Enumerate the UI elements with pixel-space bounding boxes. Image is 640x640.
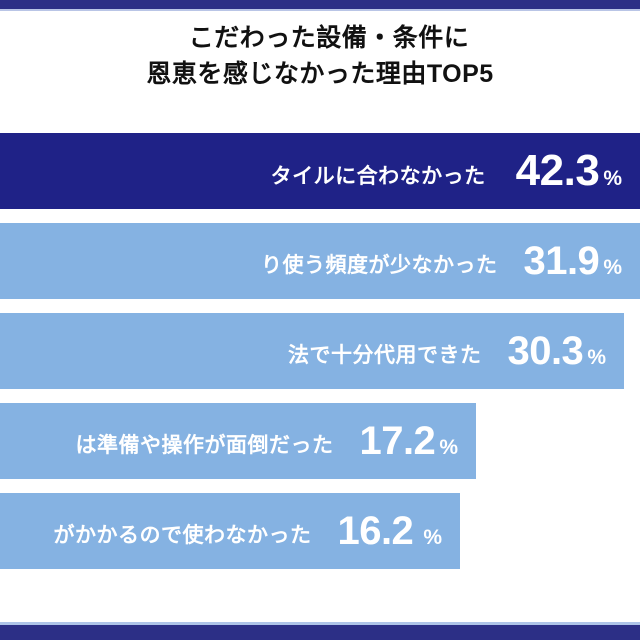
bar-rank-2: り使う頻度が少なかった31.9%	[0, 223, 640, 299]
page-title-line-1: こだわった設備・条件に	[0, 20, 640, 56]
bar-row: 法で十分代用できた30.3%	[0, 313, 640, 389]
bottom-brand-rule	[0, 625, 640, 640]
bar-content: がかかるので使わなかった16.2%	[53, 509, 460, 554]
page-title-line-2: 恩恵を感じなかった理由TOP5	[0, 56, 640, 92]
bar-content: り使う頻度が少なかった31.9%	[261, 239, 640, 284]
bar-label: は準備や操作が面倒だった	[75, 429, 333, 459]
bar-content: 法で十分代用できた30.3%	[288, 329, 624, 374]
bar-row: タイルに合わなかった42.3%	[0, 133, 640, 209]
top-brand-rule-accent	[0, 9, 640, 11]
bar-value: 31.9	[523, 239, 599, 284]
bar-value: 30.3	[507, 329, 583, 374]
bar-label: タイルに合わなかった	[271, 160, 486, 190]
bar-row: は準備や操作が面倒だった17.2%	[0, 403, 640, 479]
bar-rank-3: 法で十分代用できた30.3%	[0, 313, 624, 389]
bar-row: がかかるので使わなかった16.2%	[0, 493, 640, 569]
bar-value: 16.2	[337, 509, 413, 554]
bar-label: 法で十分代用できた	[288, 339, 482, 369]
bar-value: 42.3	[516, 146, 600, 196]
bar-rank-5: がかかるので使わなかった16.2%	[0, 493, 460, 569]
bar-content: は準備や操作が面倒だった17.2%	[75, 419, 476, 464]
bar-label: り使う頻度が少なかった	[261, 249, 498, 279]
bar-value-unit: %	[587, 346, 606, 370]
top-brand-rule	[0, 0, 640, 9]
page-title: こだわった設備・条件に 恩恵を感じなかった理由TOP5	[0, 20, 640, 93]
bar-value-unit: %	[439, 436, 458, 460]
bar-content: タイルに合わなかった42.3%	[271, 146, 640, 196]
bar-chart: タイルに合わなかった42.3%り使う頻度が少なかった31.9%法で十分代用できた…	[0, 133, 640, 583]
bar-value-unit: %	[603, 167, 622, 191]
infographic-root: こだわった設備・条件に 恩恵を感じなかった理由TOP5 タイルに合わなかった42…	[0, 0, 640, 640]
bar-rank-4: は準備や操作が面倒だった17.2%	[0, 403, 476, 479]
bar-value-unit: %	[423, 526, 442, 550]
bar-value: 17.2	[359, 419, 435, 464]
bar-label: がかかるので使わなかった	[53, 519, 311, 549]
bar-value-unit: %	[603, 256, 622, 280]
bar-rank-1: タイルに合わなかった42.3%	[0, 133, 640, 209]
bar-row: り使う頻度が少なかった31.9%	[0, 223, 640, 299]
